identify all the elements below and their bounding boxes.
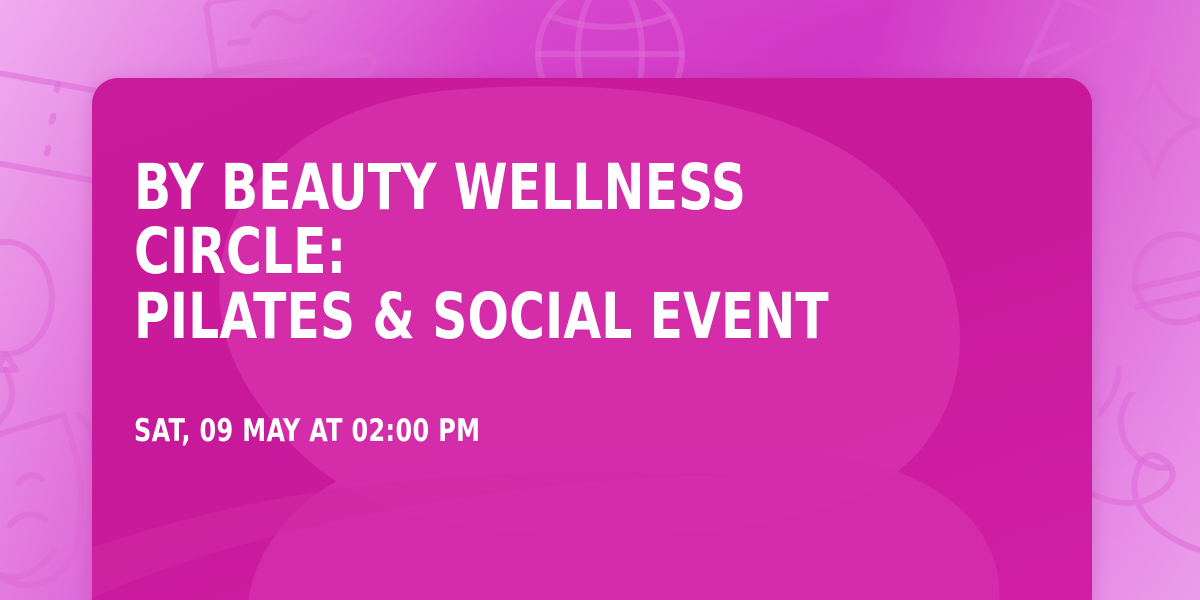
event-card[interactable]: BY BEAUTY WELLNESS CIRCLE: PILATES & SOC… bbox=[92, 78, 1092, 600]
event-card-content: BY BEAUTY WELLNESS CIRCLE: PILATES & SOC… bbox=[134, 156, 1052, 449]
event-date-time: SAT, 09 MAY AT 02:00 PM bbox=[134, 413, 923, 449]
event-title: BY BEAUTY WELLNESS CIRCLE: PILATES & SOC… bbox=[134, 156, 923, 349]
event-banner: BY BEAUTY WELLNESS CIRCLE: PILATES & SOC… bbox=[0, 0, 1200, 600]
